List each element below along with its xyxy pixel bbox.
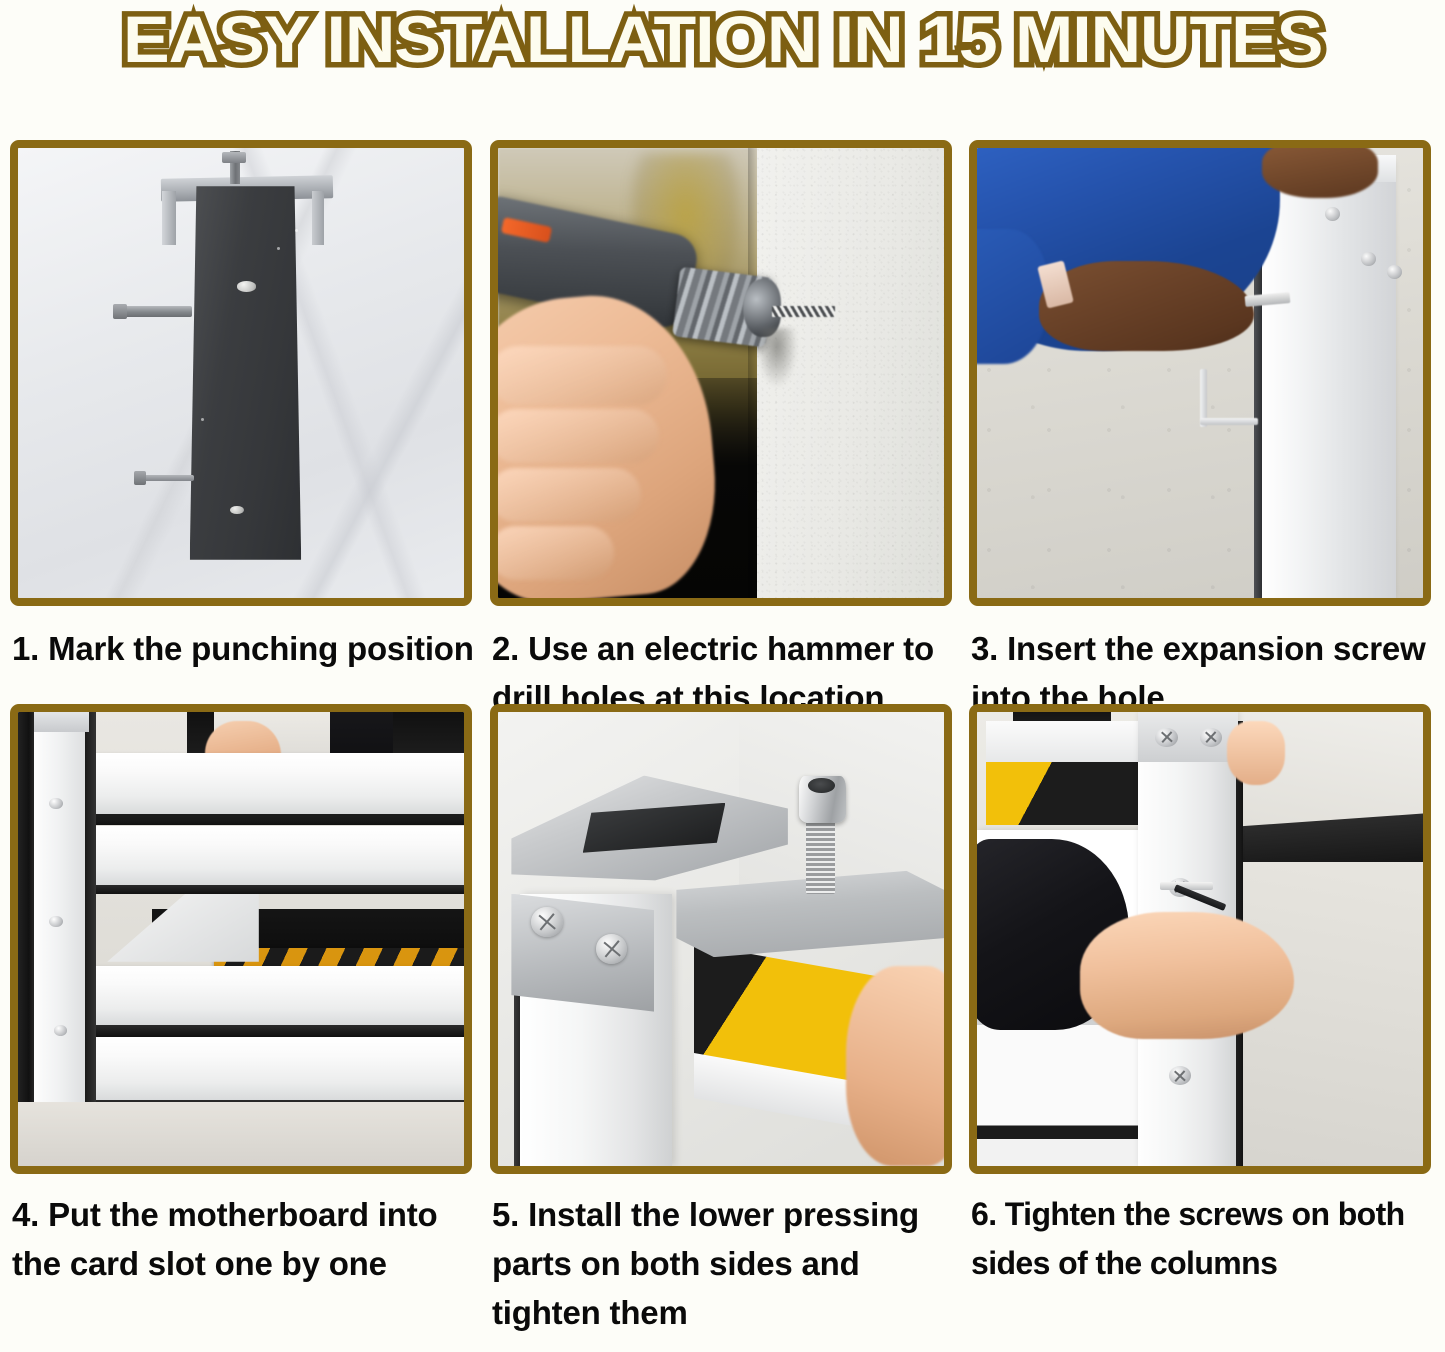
step-3-photo-frame — [969, 140, 1431, 606]
column-top-bracket — [1138, 712, 1238, 762]
speck — [201, 418, 204, 421]
board-slot-gap — [80, 1025, 464, 1036]
phillips-screw — [1200, 728, 1222, 747]
step-5-photo-frame — [490, 704, 952, 1174]
finger — [498, 468, 641, 522]
wall-corner-shadow — [748, 148, 757, 598]
dark-tapered-mounting-plate — [190, 186, 302, 560]
column-screw — [1325, 207, 1340, 221]
step-3-cell: 3. Insert the expansion screw into the h… — [963, 78, 1437, 698]
column-screw — [49, 798, 62, 809]
board-slot-gap — [80, 885, 464, 894]
photo-drill-holes-in-wall — [498, 148, 944, 598]
phillips-screw — [1155, 728, 1177, 747]
title-banner: EASY INSTALLATION IN 15 MINUTES — [0, 0, 1445, 78]
drilling-dust — [757, 328, 797, 387]
photo-tighten-column-screws — [977, 712, 1423, 1166]
column-post-cap — [34, 712, 90, 732]
steps-grid: 1. Mark the punching position — [0, 78, 1445, 1352]
installation-instructions-infographic: EASY INSTALLATION IN 15 MINUTES — [0, 0, 1445, 1352]
upper-side-bolt-head — [113, 304, 127, 320]
photo-mark-punching-position — [18, 148, 464, 598]
step-5-cell: 5. Install the lower pressing parts on b… — [484, 698, 958, 1352]
speck — [295, 229, 298, 232]
floor-strip — [18, 1102, 464, 1166]
step-6-photo-frame — [969, 704, 1431, 1174]
finger — [498, 526, 614, 580]
barrier-board — [80, 966, 464, 1025]
step-1-caption: 1. Mark the punching position — [12, 624, 474, 673]
white-board-above-hazard — [986, 721, 1147, 762]
steps-row-bottom: 4. Put the motherboard into the card slo… — [0, 698, 1445, 1352]
lower-marking-hole — [230, 506, 243, 514]
column-right-bracket — [312, 191, 324, 245]
hand-supporting-board — [846, 966, 944, 1166]
step-1-cell: 1. Mark the punching position — [4, 78, 478, 698]
bolt-hex-socket — [808, 778, 835, 793]
upper-side-bolt — [116, 306, 192, 316]
column-screw — [49, 916, 62, 927]
yellow-black-hazard-stripe — [986, 762, 1147, 826]
barrier-board — [80, 1037, 464, 1101]
hand-turning-allen-key — [1080, 912, 1294, 1039]
barrier-board — [80, 826, 464, 885]
step-2-photo-frame — [490, 140, 952, 606]
top-stud-nut — [222, 152, 246, 164]
photo-boards-into-card-slot — [18, 712, 464, 1166]
column-left-bracket — [162, 191, 176, 245]
barrier-board — [80, 753, 464, 814]
photo-insert-expansion-screw — [977, 148, 1423, 598]
photo-lower-pressing-parts — [498, 712, 944, 1166]
worker-upper-hand — [1262, 148, 1378, 198]
chrome-bolt-thread — [806, 821, 835, 894]
upper-marking-hole — [237, 281, 257, 291]
step-6-cell: 6. Tighten the screws on both sides of t… — [963, 698, 1437, 1352]
step-1-photo-frame — [10, 140, 472, 606]
drill-bit — [772, 306, 834, 318]
white-column-post — [34, 712, 88, 1112]
finger — [498, 346, 667, 405]
column-inner-dark-edge — [85, 712, 96, 1112]
column-screw — [54, 1025, 67, 1036]
steps-row-top: 1. Mark the punching position — [0, 78, 1445, 698]
step-4-caption: 4. Put the motherboard into the card slo… — [12, 1190, 474, 1288]
second-hand-steadying-column — [1227, 721, 1285, 785]
step-5-caption: 5. Install the lower pressing parts on b… — [492, 1190, 954, 1337]
finger — [498, 409, 659, 463]
phillips-screw — [531, 907, 562, 937]
step-6-caption: 6. Tighten the screws on both sides of t… — [971, 1190, 1433, 1288]
speck — [277, 247, 280, 250]
phillips-screw — [596, 934, 627, 964]
allen-wrench-arm — [1200, 418, 1258, 425]
step-2-cell: 2. Use an electric hammer to drill holes… — [484, 78, 958, 698]
page-title: EASY INSTALLATION IN 15 MINUTES — [123, 4, 1322, 74]
lower-side-bolt-head — [134, 471, 146, 485]
white-aluminum-column — [1262, 162, 1396, 599]
step-4-photo-frame — [10, 704, 472, 1174]
bracket-front-face — [511, 894, 654, 1012]
step-4-cell: 4. Put the motherboard into the card slo… — [4, 698, 478, 1352]
column-screw — [1361, 252, 1376, 266]
